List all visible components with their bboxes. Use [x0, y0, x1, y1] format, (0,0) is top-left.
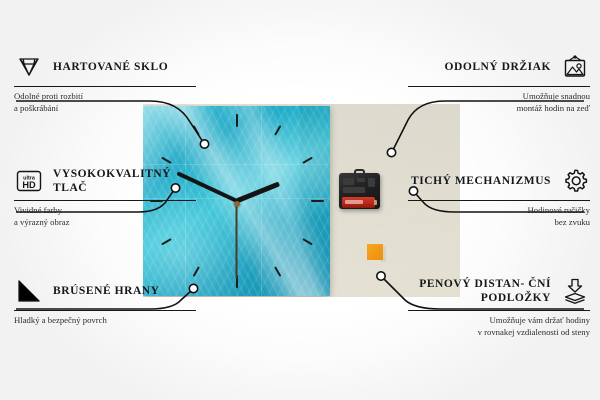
gear-icon — [560, 166, 590, 196]
infographic-canvas: HARTOVANÉ SKLO Odolné proti rozbití a po… — [0, 0, 600, 400]
feature-description: Vividné farby a výrazný obraz — [14, 205, 196, 228]
clock-tick-2 — [302, 157, 313, 164]
clock-tick-3 — [311, 200, 324, 202]
clock-mechanism — [339, 169, 380, 209]
ultra-hd-icon: ultra HD — [14, 166, 44, 196]
battery-terminal — [374, 200, 377, 205]
feature-high-quality-print: ultra HD VYSOKOKVALITNÝ TLAČ Vividné far… — [14, 166, 196, 228]
feature-title: PENOVÝ DISTAN- ČNÍ PODLOŽKY — [408, 277, 551, 306]
clock-tick-10 — [161, 157, 172, 164]
beveled-edge-icon — [14, 276, 44, 306]
clock-center-cap — [234, 201, 240, 207]
feature-header: ultra HD VYSOKOKVALITNÝ TLAČ — [14, 166, 196, 196]
feature-description: Umožňuje vám držať hodiny v rovnakej vzd… — [408, 315, 590, 338]
feature-title: VYSOKOKVALITNÝ TLAČ — [53, 167, 196, 196]
feature-title: ODOLNÝ DRŽIAK — [444, 60, 551, 74]
feature-ground-edges: BRÚSENÉ HRANY Hladký a bezpečný povrch — [14, 276, 196, 327]
foam-spacer-pad — [367, 244, 386, 263]
mechanism-battery — [342, 197, 375, 208]
feature-divider — [408, 86, 590, 87]
picture-hanger-icon — [560, 52, 590, 82]
spacer-top-face — [367, 244, 383, 260]
mechanism-detail — [343, 187, 365, 193]
feature-divider — [14, 310, 196, 311]
feature-silent-mechanism: TICHÝ MECHANIZMUS Hodinové ručičky bez z… — [408, 166, 590, 228]
clock-tick-8 — [161, 238, 172, 245]
feature-divider — [14, 200, 196, 201]
feature-header: TICHÝ MECHANIZMUS — [408, 166, 590, 196]
mechanism-body — [339, 173, 380, 209]
feature-title: TICHÝ MECHANIZMUS — [411, 174, 551, 188]
diamond-icon — [14, 52, 44, 82]
feature-header: HARTOVANÉ SKLO — [14, 52, 196, 82]
clock-hour-hand — [236, 181, 281, 203]
feature-durable-holder: ODOLNÝ DRŽIAK Umožňuje snadnou montáž ho… — [408, 52, 590, 114]
clock-tick-12 — [236, 114, 238, 127]
feature-hardened-glass: HARTOVANÉ SKLO Odolné proti rozbití a po… — [14, 52, 196, 114]
clock-second-hand — [236, 201, 238, 279]
mechanism-detail — [357, 178, 365, 182]
feature-header: ODOLNÝ DRŽIAK — [408, 52, 590, 82]
battery-label — [345, 200, 363, 204]
feature-title: HARTOVANÉ SKLO — [53, 60, 168, 74]
clock-tick-1 — [274, 125, 281, 136]
feature-header: PENOVÝ DISTAN- ČNÍ PODLOŽKY — [408, 276, 590, 306]
feature-foam-spacers: PENOVÝ DISTAN- ČNÍ PODLOŽKY Umožňuje vám… — [408, 276, 590, 338]
glass-reflection-line — [143, 164, 330, 165]
feature-description: Odolné proti rozbití a poškrábání — [14, 91, 196, 114]
mechanism-detail — [343, 178, 354, 185]
feature-description: Hodinové ručičky bez zvuku — [408, 205, 590, 228]
clock-tick-11 — [192, 125, 199, 136]
glass-reflection-line — [261, 106, 262, 296]
clock-tick-5 — [274, 266, 281, 277]
feature-description: Umožňuje snadnou montáž hodin na zeď — [408, 91, 590, 114]
feature-description: Hladký a bezpečný povrch — [14, 315, 196, 327]
feature-divider — [408, 310, 590, 311]
clock-tick-4 — [302, 238, 313, 245]
svg-text:HD: HD — [22, 180, 36, 190]
feature-divider — [408, 200, 590, 201]
feature-divider — [14, 86, 196, 87]
press-layers-icon — [560, 276, 590, 306]
feature-header: BRÚSENÉ HRANY — [14, 276, 196, 306]
feature-title: BRÚSENÉ HRANY — [53, 284, 160, 298]
mechanism-detail — [368, 178, 375, 187]
